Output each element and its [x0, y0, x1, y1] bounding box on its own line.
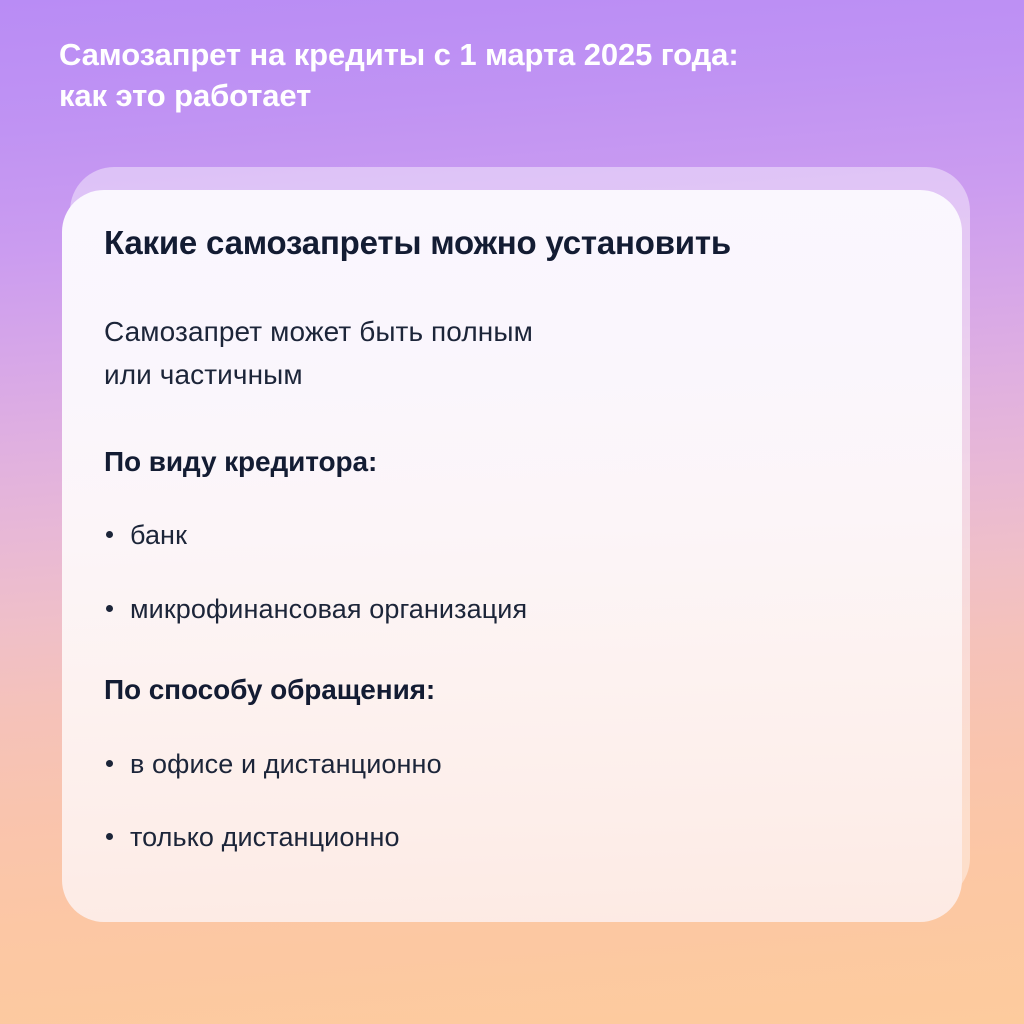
bullet-list: в офисе и дистанционно только дистанцион…	[104, 748, 926, 854]
list-item-label: банк	[130, 520, 187, 550]
list-item: банк	[104, 519, 926, 551]
bullet-dot-icon	[106, 760, 113, 767]
infographic-slide: Самозапрет на кредиты с 1 марта 2025 год…	[0, 0, 1024, 1024]
list-item-label: микрофинансовая организация	[130, 594, 527, 624]
list-item: только дистанционно	[104, 821, 926, 853]
card-lead-text: Самозапрет может быть полным или частичн…	[104, 311, 926, 397]
page-title: Самозапрет на кредиты с 1 марта 2025 год…	[59, 34, 939, 116]
bullet-group-application-method: По способу обращения: в офисе и дистанци…	[104, 673, 926, 853]
bullet-dot-icon	[106, 605, 113, 612]
bullet-list: банк микрофинансовая организация	[104, 519, 926, 625]
bullet-dot-icon	[106, 531, 113, 538]
bullet-dot-icon	[106, 833, 113, 840]
card-heading: Какие самозапреты можно установить	[104, 218, 926, 263]
bullet-group-creditor-type: По виду кредитора: банк микрофинансовая …	[104, 445, 926, 625]
content-card: Какие самозапреты можно установить Самоз…	[62, 190, 962, 922]
list-item-label: только дистанционно	[130, 822, 400, 852]
list-item-label: в офисе и дистанционно	[130, 749, 442, 779]
bullet-group-heading: По способу обращения:	[104, 673, 926, 707]
footer: госуслуги	[0, 930, 1024, 1024]
list-item: микрофинансовая организация	[104, 593, 926, 625]
list-item: в офисе и дистанционно	[104, 748, 926, 780]
bullet-group-heading: По виду кредитора:	[104, 445, 926, 479]
